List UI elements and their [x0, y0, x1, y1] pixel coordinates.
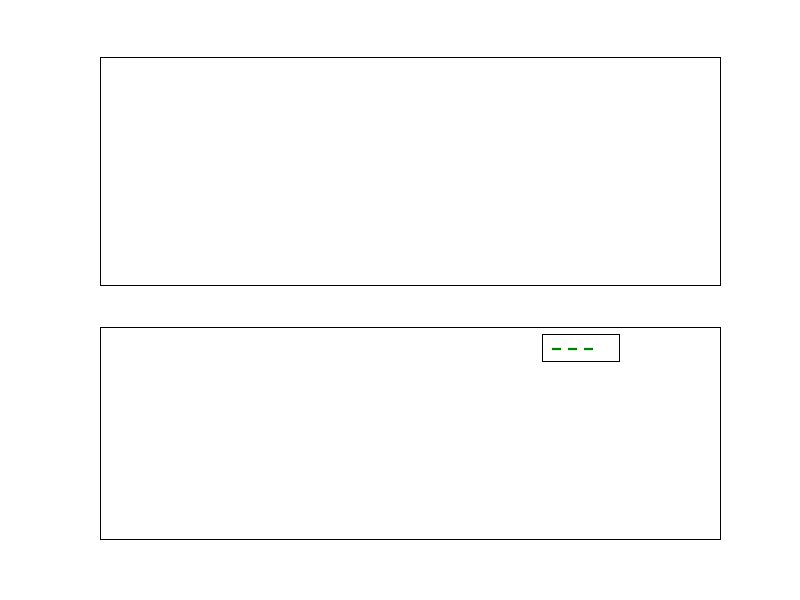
mag-limit-line-swatch — [551, 341, 595, 355]
cumulative-canvas — [101, 328, 720, 539]
bottom-panel-cumulative — [100, 327, 721, 540]
matplotlib-figure — [0, 0, 800, 600]
top-panel-histogram — [100, 57, 721, 286]
histogram-canvas — [101, 58, 720, 285]
legend-box — [542, 334, 620, 362]
